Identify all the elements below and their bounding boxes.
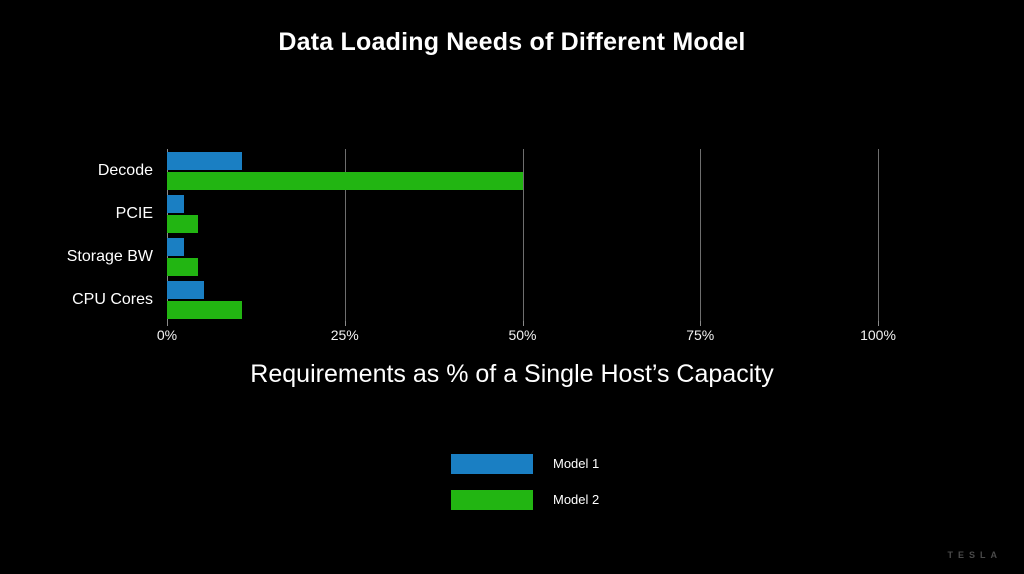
category-label-decode: Decode [98, 162, 153, 180]
bar-decode-model-2 [167, 172, 523, 190]
bar-cpu-cores-model-1 [167, 281, 204, 299]
x-tick-label: 100% [860, 327, 896, 343]
chart-title: Data Loading Needs of Different Model [0, 28, 1024, 57]
gridline-50% [523, 149, 524, 321]
bar-pcie-model-1 [167, 195, 184, 213]
tesla-watermark: TESLA [947, 550, 1002, 560]
category-label-storage-bw: Storage BW [67, 248, 153, 266]
legend-label: Model 2 [553, 492, 599, 507]
gridline-100% [878, 149, 879, 321]
x-axis-title: Requirements as % of a Single Host’s Cap… [0, 360, 1024, 389]
bar-storage-bw-model-2 [167, 258, 198, 276]
category-label-pcie: PCIE [116, 205, 153, 223]
category-label-cpu-cores: CPU Cores [72, 291, 153, 309]
legend-item-model-1[interactable]: Model 1 [451, 452, 671, 475]
bar-pcie-model-2 [167, 215, 198, 233]
x-tick-label: 25% [331, 327, 359, 343]
legend-swatch [451, 490, 533, 510]
legend-item-model-2[interactable]: Model 2 [451, 488, 671, 511]
tick-mark [345, 321, 346, 326]
tick-mark [167, 321, 168, 326]
bar-storage-bw-model-1 [167, 238, 184, 256]
x-tick-label: 50% [508, 327, 536, 343]
x-tick-label: 75% [686, 327, 714, 343]
category-axis: DecodePCIEStorage BWCPU Cores [0, 149, 167, 321]
bar-decode-model-1 [167, 152, 242, 170]
chart-legend: Model 1Model 2 [451, 452, 671, 524]
tick-mark [700, 321, 701, 326]
x-tick-label: 0% [157, 327, 177, 343]
tick-mark [878, 321, 879, 326]
tick-mark [523, 321, 524, 326]
gridline-75% [700, 149, 701, 321]
bar-cpu-cores-model-2 [167, 301, 242, 319]
legend-label: Model 1 [553, 456, 599, 471]
legend-swatch [451, 454, 533, 474]
plot-area: 0%25%50%75%100% [167, 149, 878, 321]
slide-canvas: Data Loading Needs of Different Model De… [0, 0, 1024, 574]
